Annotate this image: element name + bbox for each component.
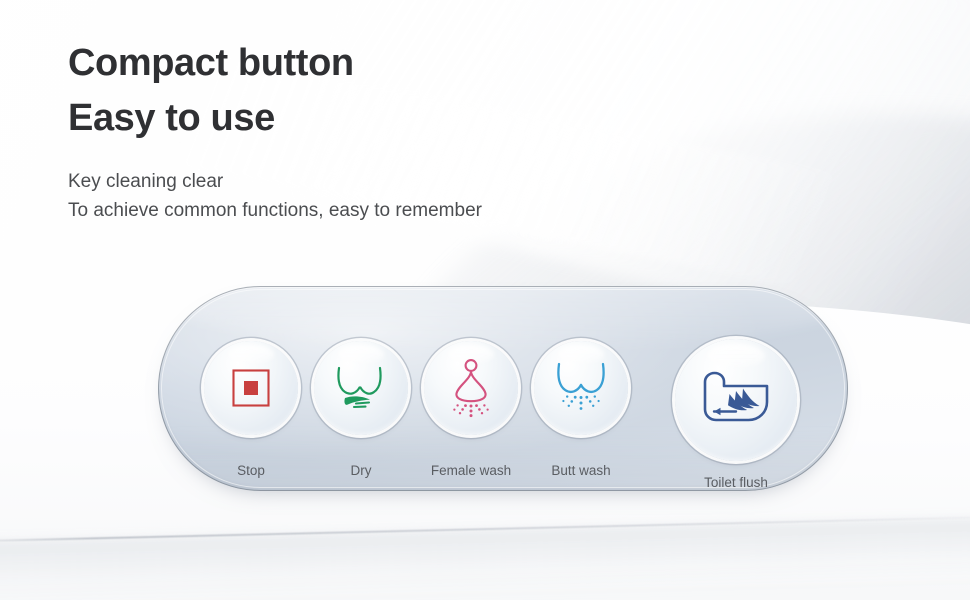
button-toilet-flush-disc[interactable]: [675, 339, 797, 461]
button-stop-label: Stop: [237, 463, 265, 478]
dry-air-icon: [332, 362, 390, 414]
butt-wash-icon: [551, 358, 611, 418]
button-butt-wash[interactable]: Butt wash: [534, 341, 628, 435]
female-wash-icon: [445, 357, 497, 419]
button-toilet-flush[interactable]: Toilet flush: [675, 339, 797, 461]
button-female-wash[interactable]: Female wash: [424, 341, 518, 435]
stop-square-icon: [228, 365, 274, 411]
button-stop-disc[interactable]: [204, 341, 298, 435]
button-butt-wash-disc[interactable]: [534, 341, 628, 435]
page-title: Compact button Easy to use: [68, 36, 688, 146]
button-dry-disc[interactable]: [314, 341, 408, 435]
page-subtitle: Key cleaning clear To achieve common fun…: [68, 168, 708, 225]
button-toilet-flush-label: Toilet flush: [704, 475, 768, 490]
button-stop[interactable]: Stop: [204, 341, 298, 435]
product-feature-image: Compact button Easy to use Key cleaning …: [0, 0, 970, 600]
button-dry-label: Dry: [351, 463, 372, 478]
button-butt-wash-label: Butt wash: [551, 463, 610, 478]
toilet-flush-icon: [696, 370, 776, 430]
button-female-wash-label: Female wash: [431, 463, 511, 478]
button-dry[interactable]: Dry: [314, 341, 408, 435]
button-female-wash-disc[interactable]: [424, 341, 518, 435]
